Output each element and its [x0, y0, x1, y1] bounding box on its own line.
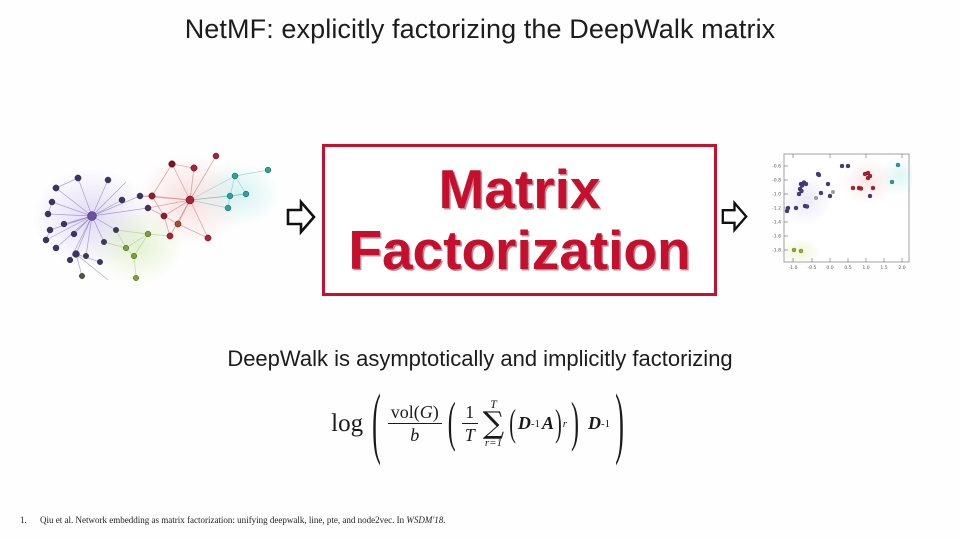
svg-text:0.0: 0.0 [826, 265, 833, 271]
footnote-body: Qiu et al. Network embedding as matrix f… [40, 515, 940, 525]
formula-vol-g: G [420, 402, 433, 422]
formula-open-paren-inner: ( [448, 396, 456, 451]
svg-text:1.5: 1.5 [880, 265, 887, 271]
embedding-scatter-plot: -1.0 -0.5 0.0 0.5 1.0 1.5 2.0 -0.6 -0.8 … [760, 148, 912, 288]
formula-T-den: T [462, 423, 478, 445]
formula-A-matrix: A [542, 413, 554, 434]
right-arrow-icon-1 [286, 199, 316, 240]
svg-text:0.5: 0.5 [844, 265, 851, 271]
formula-D2-exponent: -1 [601, 418, 610, 430]
formula-r-exponent: r [563, 418, 567, 430]
subtitle-text: DeepWalk is asymptotically and implicitl… [0, 346, 960, 372]
footnote-venue: WSDM'18. [406, 515, 445, 525]
matrix-factorization-box: Matrix Factorization [322, 144, 717, 296]
mf-title-line-2: Factorization [348, 223, 690, 278]
formula-vol-close: ) [433, 402, 439, 422]
svg-text:-1.0: -1.0 [772, 192, 781, 198]
svg-text:-1.8: -1.8 [772, 248, 781, 254]
page-title: NetMF: explicitly factorizing the DeepWa… [0, 14, 960, 45]
scatter-svg: -1.0 -0.5 0.0 0.5 1.0 1.5 2.0 -0.6 -0.8 … [760, 148, 912, 288]
svg-text:-0.5: -0.5 [808, 265, 817, 271]
formula-close-paren-inner: ) [571, 396, 579, 451]
input-graph-visualization [30, 138, 288, 303]
formula-D-inverse-2: D [588, 413, 601, 434]
svg-text:-1.0: -1.0 [789, 265, 798, 271]
formula-open-paren-DA: ( [509, 405, 516, 443]
formula-vol-fraction: vol(G) b [388, 402, 442, 445]
svg-text:-1.4: -1.4 [772, 220, 781, 226]
svg-text:-0.8: -0.8 [772, 178, 781, 184]
formula-D-inverse-1: D [518, 413, 531, 434]
formula-summation: T ∑ r=1 [483, 398, 504, 449]
footnote-main-text: Qiu et al. Network embedding as matrix f… [40, 515, 406, 525]
formula-log: log [331, 410, 363, 438]
right-arrow-icon-2 [721, 200, 748, 238]
formula-vol-label: vol( [391, 402, 420, 422]
svg-text:-1.2: -1.2 [772, 206, 781, 212]
svg-text:-0.6: -0.6 [772, 164, 781, 170]
footnote-citation: 1. Qiu et al. Network embedding as matri… [20, 515, 940, 525]
formula-close-paren-outer: ) [615, 384, 624, 463]
formula-b: b [388, 423, 442, 445]
footnote-number: 1. [20, 515, 40, 525]
formula-D1-exponent: -1 [531, 418, 540, 430]
svg-text:1.0: 1.0 [862, 265, 869, 271]
formula-one-over-T: 1 T [462, 402, 478, 445]
mf-title-line-1: Matrix [439, 162, 601, 217]
formula-sum-symbol: ∑ [483, 409, 504, 439]
formula-one: 1 [462, 402, 477, 423]
formula-close-paren-DA: ) [555, 405, 562, 443]
formula-sum-lower: r=1 [485, 438, 502, 449]
graph-svg [30, 138, 288, 303]
deepwalk-matrix-formula: log ( vol(G) b ( 1 T T ∑ r=1 ( D-1 A )r … [0, 398, 960, 449]
svg-text:-1.6: -1.6 [772, 234, 781, 240]
formula-open-paren-outer: ( [372, 384, 381, 463]
svg-text:2.0: 2.0 [898, 265, 905, 271]
